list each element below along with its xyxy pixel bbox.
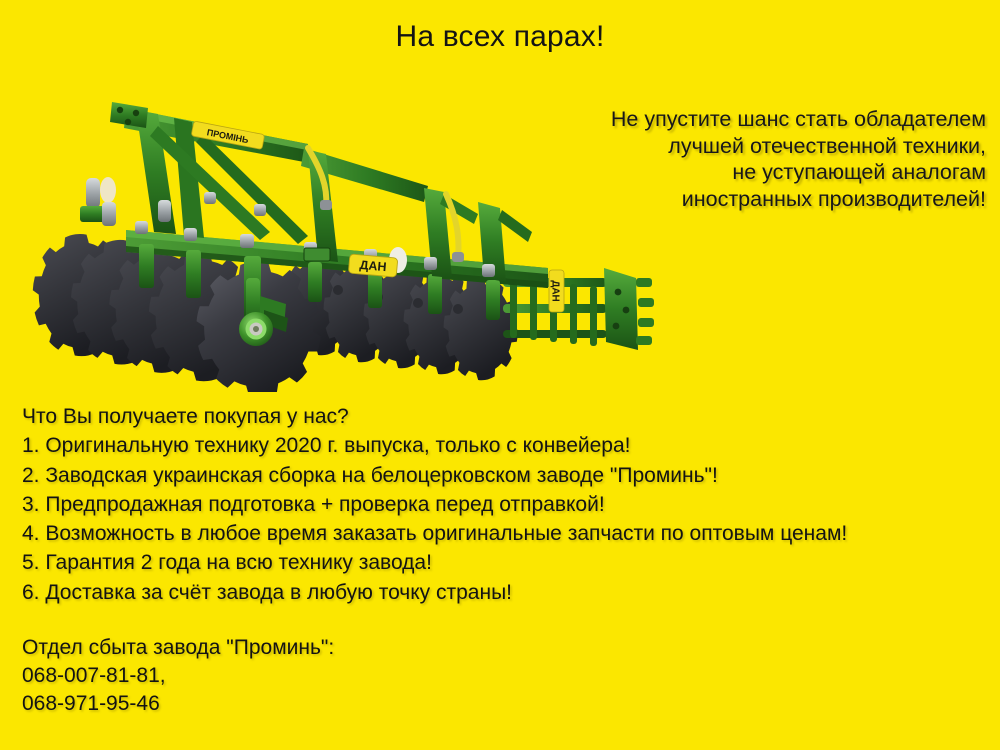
benefits-block: Что Вы получаете покупая у нас? 1. Ориги… [22,402,992,607]
benefits-question: Что Вы получаете покупая у нас? [22,402,992,431]
contact-phone-1[interactable]: 068-007-81-81, [22,662,334,690]
benefit-item-3: 3. Предпродажная подготовка + проверка п… [22,490,992,519]
benefit-item-5: 5. Гарантия 2 года на всю технику завода… [22,548,992,577]
decal-dan-frame-label: ДАН [359,258,387,274]
decal-dan-rear: ДАН [549,270,564,312]
contact-block: Отдел сбыта завода "Проминь": 068-007-81… [22,634,334,718]
tagline-line-4: иностранных производителей! [516,186,986,213]
tagline-line-3: не уступающей аналогам [516,159,986,186]
benefit-item-4: 4. Возможность в любое время заказать ор… [22,519,992,548]
benefit-item-2: 2. Заводская украинская сборка на белоце… [22,461,992,490]
benefit-item-1: 1. Оригинальную технику 2020 г. выпуска,… [22,431,992,460]
hitch-head [110,102,148,128]
tagline-block: Не упустите шанс стать обладателем лучше… [516,106,986,212]
frame-spec-plate [304,248,330,261]
hero-disc-hub [239,312,273,346]
tagline-line-1: Не упустите шанс стать обладателем [516,106,986,133]
contact-phone-2[interactable]: 068-971-95-46 [22,690,334,718]
decal-dan-rear-label: ДАН [550,280,561,302]
page-title: На всех парах! [0,20,1000,54]
benefit-item-6: 6. Доставка за счёт завода в любую точку… [22,578,992,607]
decal-dan-frame: ДАН [348,254,397,277]
contact-department: Отдел сбыта завода "Проминь": [22,634,334,662]
advertisement-poster: На всех парах! [0,0,1000,750]
tagline-line-2: лучшей отечественной техники, [516,133,986,160]
